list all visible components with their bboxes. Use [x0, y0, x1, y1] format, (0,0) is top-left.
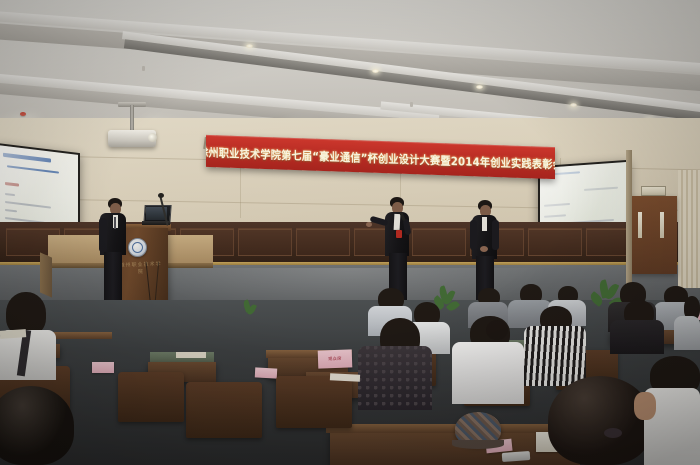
hair-bun [486, 320, 508, 340]
banner-text: 滁州职业技术学院第七届“豪业通信”杯创业设计大赛暨2014年创业实践表彰会 [206, 142, 555, 172]
paper-on-desk [176, 352, 206, 358]
ceiling-downlight [570, 103, 577, 107]
lecture-hall-photo: 滁州职业技术学院第七届“豪业通信”杯创业设计大赛暨2014年创业实践表彰会 滁州… [0, 0, 700, 465]
door-glass-pane [638, 212, 642, 238]
audience-name-card: 观众席 [318, 349, 353, 368]
cap-brim [452, 440, 504, 449]
ceiling-downlight [246, 44, 253, 48]
smoke-detector [20, 112, 26, 116]
resting-hand [634, 392, 656, 420]
hair-tie [604, 428, 622, 438]
sprinkler-head [142, 66, 145, 71]
ceiling-downlight [372, 69, 379, 73]
presenter-hand [366, 222, 372, 227]
potted-plant [238, 300, 258, 322]
auditorium-chair [276, 376, 352, 428]
microphone-head [158, 193, 164, 198]
contestant-badge [396, 230, 402, 238]
paper-on-desk [330, 373, 360, 382]
vertical-blinds [678, 170, 700, 288]
door-glass-pane [660, 212, 664, 238]
projector-lens [148, 133, 157, 142]
auditorium-chair [186, 382, 262, 438]
audience-desk [52, 332, 112, 339]
right-wall [626, 150, 632, 290]
ceiling-downlight [476, 85, 483, 89]
stage-deck-side [40, 252, 52, 297]
door-sign [641, 186, 666, 196]
presenter-hands-clasped [480, 246, 488, 252]
college-crest-icon [128, 238, 147, 257]
audience-name-card [92, 362, 114, 373]
phone-on-desk [502, 451, 531, 462]
name-card-text: 观众席 [328, 356, 342, 362]
auditorium-chair [118, 372, 184, 422]
sprinkler-head [410, 102, 413, 107]
audience-name-card [255, 367, 277, 378]
